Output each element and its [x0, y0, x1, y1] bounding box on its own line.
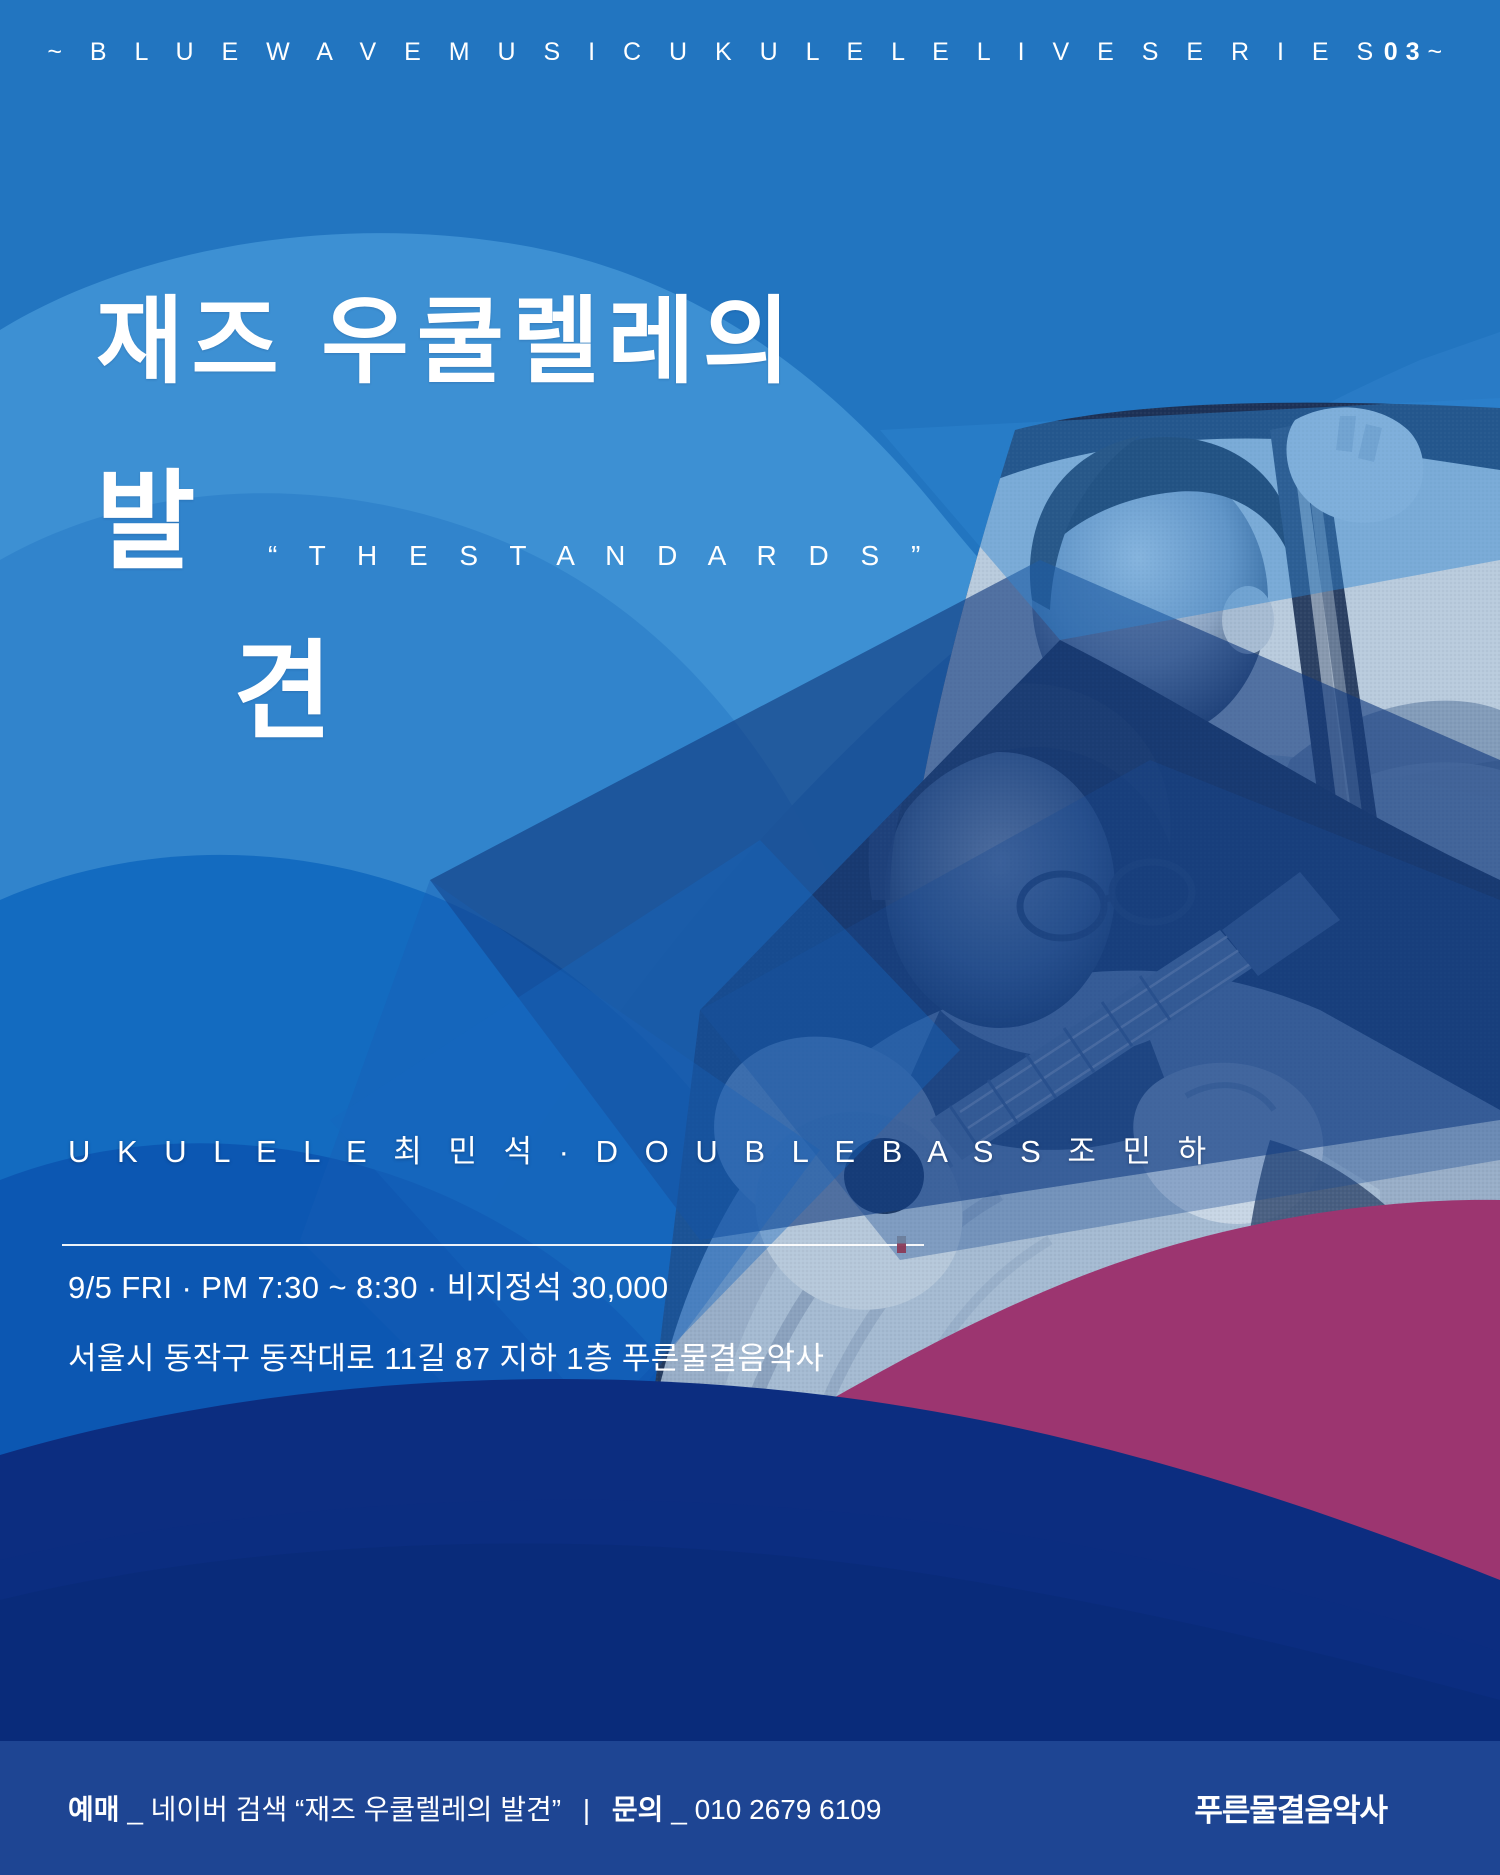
series-header: ~ B L U E W A V E M U S I C U K U L E L …: [0, 38, 1500, 67]
inquiry-value: _ 010 2679 6109: [671, 1794, 881, 1825]
booking-label: 예매: [68, 1794, 120, 1825]
poster-content: ~ B L U E W A V E M U S I C U K U L E L …: [0, 0, 1500, 1875]
title-line-3: 견: [233, 638, 332, 746]
series-suffix: ~: [1428, 38, 1453, 66]
series-number: 03: [1384, 38, 1428, 66]
series-prefix: ~ B L U E W A V E M U S I C U K U L E L …: [47, 38, 1383, 66]
poster-footer: 예매 _ 네이버 검색 “재즈 우쿨렐레의 발견” | 문의 _ 010 267…: [0, 1741, 1500, 1875]
footer-divider: |: [569, 1794, 604, 1825]
booking-value: _ 네이버 검색 “재즈 우쿨렐레의 발견”: [127, 1794, 561, 1825]
detail-date-time-price: 9/5 FRI · PM 7:30 ~ 8:30 · 비지정석 30,000: [68, 1262, 669, 1307]
divider-marker: [897, 1236, 906, 1253]
performers-credit: U K U L E L E 최 민 석 · D O U B L E B A S …: [68, 1126, 1215, 1171]
organizer-logo: 푸른물결음악사: [1194, 1785, 1387, 1830]
title-subtitle: “ T H E S T A N D A R D S ”: [268, 540, 932, 572]
detail-venue: 서울시 동작구 동작대로 11길 87 지하 1층 푸른물결음악사: [68, 1333, 824, 1378]
concert-poster: ~ B L U E W A V E M U S I C U K U L E L …: [0, 0, 1500, 1875]
footer-info: 예매 _ 네이버 검색 “재즈 우쿨렐레의 발견” | 문의 _ 010 267…: [68, 1788, 881, 1828]
divider-rule: [62, 1244, 924, 1246]
title-line-1: 재즈 우쿨렐레의: [96, 295, 798, 390]
inquiry-label: 문의: [612, 1794, 664, 1825]
title-line-2: 발: [96, 468, 195, 576]
